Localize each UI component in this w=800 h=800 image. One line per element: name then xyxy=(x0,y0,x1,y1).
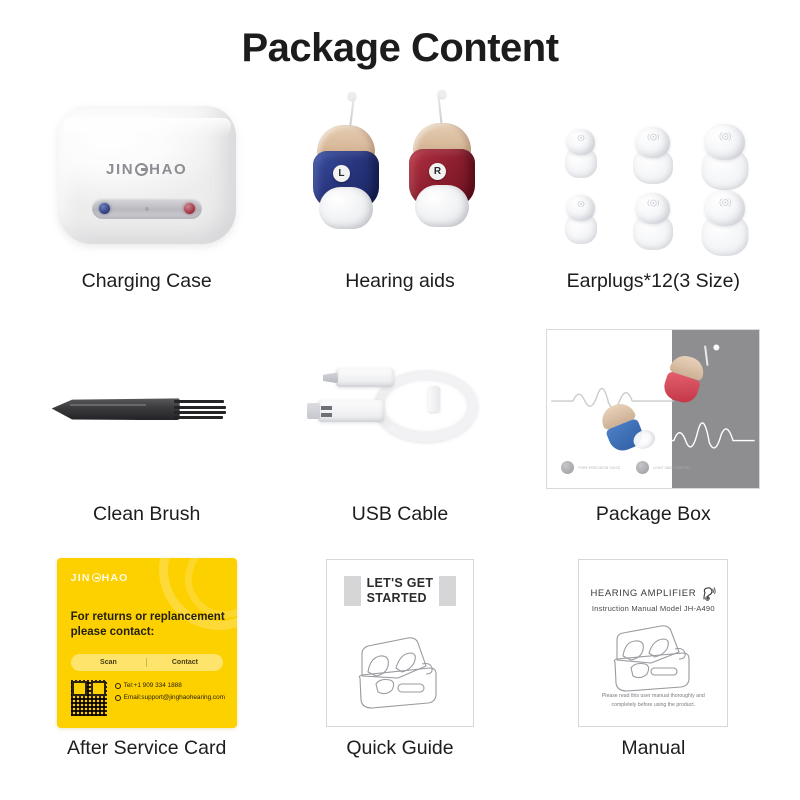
item-clean-brush[interactable]: Clean Brush xyxy=(20,319,273,552)
item-hearing-aids[interactable]: L R Hearing aids xyxy=(273,86,526,319)
feature-badge: LIGHT AND COMFORT xyxy=(636,461,690,474)
item-usb-cable[interactable]: USB Cable xyxy=(273,319,526,552)
manual-subtitle: Instruction Manual Model JH-A490 xyxy=(579,604,727,613)
item-caption: After Service Card xyxy=(67,737,226,760)
earplug-dome xyxy=(705,124,745,160)
item-caption: Package Box xyxy=(596,503,711,526)
earplug-dome xyxy=(636,193,670,224)
case-line-art xyxy=(603,620,703,700)
earplug-dome xyxy=(567,195,595,221)
card-contact-block: Tel:+1 909 334 1888 Email:support@jingha… xyxy=(71,680,227,716)
item-caption: Charging Case xyxy=(82,270,212,293)
usb-a-connector xyxy=(318,400,384,422)
item-caption: Quick Guide xyxy=(346,737,453,760)
contact-pill[interactable]: Contact xyxy=(147,659,223,666)
scan-pill[interactable]: Scan xyxy=(71,659,147,666)
aid-ear-tip xyxy=(319,187,373,229)
left-marker-badge: L xyxy=(333,165,350,182)
logo-g-icon xyxy=(135,163,148,176)
brush-bristles xyxy=(174,400,226,419)
earplug-large xyxy=(705,124,745,160)
item-quick-guide[interactable]: LET'S GET STARTED xyxy=(273,553,526,786)
item-manual[interactable]: HEARING AMPLIFIER Instruction Manual Mod… xyxy=(527,553,780,786)
contact-lines: Tel:+1 909 334 1888 Email:support@jingha… xyxy=(115,680,225,704)
card-brand-logo: JINHAO xyxy=(71,572,129,584)
earplug-small xyxy=(567,195,595,221)
right-marker-badge: R xyxy=(429,163,446,180)
page-title: Package Content xyxy=(0,0,800,86)
earplug-medium xyxy=(636,193,670,224)
charging-case-image: JINHAO xyxy=(20,86,273,266)
center-indicator-dot xyxy=(145,207,149,211)
card-headline: For returns or replancement please conta… xyxy=(71,610,225,641)
removal-wire xyxy=(349,97,355,127)
usb-cable-image xyxy=(273,319,526,499)
hearing-aids-image: L R xyxy=(273,86,526,266)
earplug-small xyxy=(567,129,595,155)
clean-brush-image xyxy=(20,319,273,499)
after-service-card-image: JINHAO For returns or replancement pleas… xyxy=(20,553,273,733)
item-caption: Manual xyxy=(621,737,685,760)
qr-code[interactable] xyxy=(71,680,107,716)
right-indicator-dot xyxy=(184,203,195,214)
case-contact-strip xyxy=(92,198,202,219)
tel-line: Tel:+1 909 334 1888 xyxy=(115,680,225,692)
box-feature-badges: PURE PRECISION VOICE LIGHT AND COMFORT xyxy=(561,461,690,474)
earplug-dome xyxy=(705,190,745,226)
cable-tie xyxy=(428,386,440,412)
item-caption: Clean Brush xyxy=(93,503,200,526)
case-brand-logo: JINHAO xyxy=(58,161,236,178)
package-content-page: Package Content JINHAO Chargin xyxy=(0,0,800,800)
item-after-service-card[interactable]: JINHAO For returns or replancement pleas… xyxy=(20,553,273,786)
item-caption: USB Cable xyxy=(352,503,448,526)
left-indicator-dot xyxy=(99,203,110,214)
case-lid-highlight xyxy=(63,118,231,138)
logo-g-icon xyxy=(92,573,101,582)
email-icon xyxy=(115,695,121,701)
item-caption: Earplugs*12(3 Size) xyxy=(567,270,740,293)
guide-block-right xyxy=(439,576,456,606)
case-line-art xyxy=(346,632,454,716)
badge-icon xyxy=(636,461,649,474)
item-caption: Hearing aids xyxy=(345,270,454,293)
package-items-grid: JINHAO Charging Case xyxy=(20,86,780,786)
item-earplugs[interactable]: Earplugs*12(3 Size) xyxy=(527,86,780,319)
email-line: Email:support@jinghaohearing.com xyxy=(115,692,225,704)
brush-handle xyxy=(52,398,180,420)
micro-usb-connector xyxy=(336,368,394,387)
earplug-dome xyxy=(567,129,595,155)
badge-icon xyxy=(561,461,574,474)
earplug-medium xyxy=(636,127,670,158)
quick-guide-image: LET'S GET STARTED xyxy=(273,553,526,733)
guide-title: LET'S GET STARTED xyxy=(367,576,434,605)
item-charging-case[interactable]: JINHAO Charging Case xyxy=(20,86,273,319)
removal-wire xyxy=(437,95,442,125)
item-package-box[interactable]: PURE PRECISION VOICE LIGHT AND COMFORT P… xyxy=(527,319,780,552)
feature-badge: PURE PRECISION VOICE xyxy=(561,461,620,474)
manual-title: HEARING AMPLIFIER xyxy=(579,586,727,602)
earplugs-image xyxy=(527,86,780,266)
phone-icon xyxy=(115,683,121,689)
ear-icon xyxy=(700,586,716,602)
guide-block-left xyxy=(344,576,361,606)
earplug-dome xyxy=(636,127,670,158)
manual-image: HEARING AMPLIFIER Instruction Manual Mod… xyxy=(527,553,780,733)
manual-footer-note: Please read this user manual thoroughly … xyxy=(593,692,713,710)
package-box-image: PURE PRECISION VOICE LIGHT AND COMFORT xyxy=(527,319,780,499)
aid-ear-tip xyxy=(415,185,469,227)
card-action-pills[interactable]: Scan Contact xyxy=(71,654,223,671)
guide-header: LET'S GET STARTED xyxy=(327,576,473,606)
earplug-large xyxy=(705,190,745,226)
hearing-aid-left: L xyxy=(309,125,383,229)
hearing-aid-right: R xyxy=(405,123,479,227)
